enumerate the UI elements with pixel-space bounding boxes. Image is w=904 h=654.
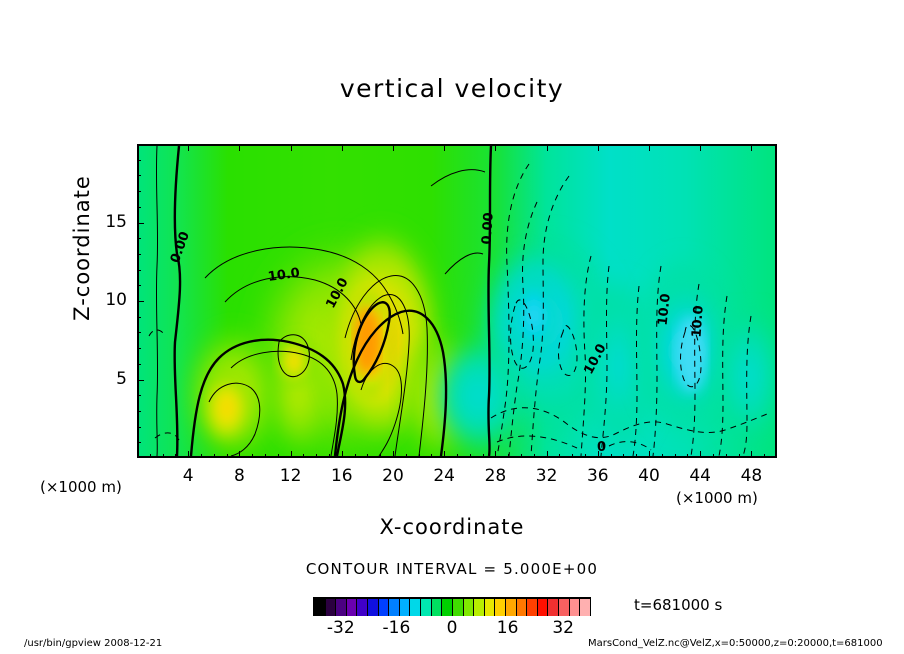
x-tick-mark bbox=[444, 451, 445, 458]
x-tick-mark-top bbox=[547, 144, 548, 151]
x-minor-tick bbox=[739, 454, 740, 458]
colorbar-swatch bbox=[410, 599, 421, 616]
x-minor-tick bbox=[419, 454, 420, 458]
x-minor-tick bbox=[214, 454, 215, 458]
contour-value-label: 0 bbox=[597, 440, 606, 455]
contour-field bbox=[139, 146, 775, 456]
x-minor-tick bbox=[175, 454, 176, 458]
x-minor-tick bbox=[521, 454, 522, 458]
x-tick-mark bbox=[700, 451, 701, 458]
colorbar-swatch bbox=[347, 599, 358, 616]
y-minor-tick bbox=[137, 191, 141, 192]
x-minor-tick bbox=[611, 454, 612, 458]
colorbar-swatch bbox=[506, 599, 517, 616]
x-tick-mark bbox=[393, 451, 394, 458]
contour-value-label: 10.0 bbox=[690, 305, 707, 338]
x-tick-mark-top bbox=[751, 144, 752, 151]
colorbar-swatch bbox=[400, 599, 411, 616]
colorbar-swatch bbox=[357, 599, 368, 616]
colorbar-swatch bbox=[517, 599, 528, 616]
x-tick-mark-top bbox=[700, 144, 701, 151]
x-minor-tick bbox=[457, 454, 458, 458]
y-minor-tick bbox=[137, 427, 141, 428]
x-minor-tick bbox=[150, 454, 151, 458]
y-axis-unit: (×1000 m) bbox=[40, 478, 122, 496]
x-tick-label: 44 bbox=[675, 466, 725, 486]
x-minor-tick bbox=[252, 454, 253, 458]
colorbar-swatch bbox=[548, 599, 559, 616]
y-tick-mark bbox=[137, 380, 144, 381]
x-tick-label: 8 bbox=[214, 466, 264, 486]
x-tick-label: 20 bbox=[368, 466, 418, 486]
x-tick-mark bbox=[547, 451, 548, 458]
x-minor-tick bbox=[713, 454, 714, 458]
y-minor-tick bbox=[137, 270, 141, 271]
x-minor-tick bbox=[662, 454, 663, 458]
x-minor-tick bbox=[623, 454, 624, 458]
x-tick-label: 4 bbox=[163, 466, 213, 486]
y-minor-tick bbox=[137, 442, 141, 443]
x-minor-tick bbox=[431, 454, 432, 458]
colorbar-swatch bbox=[368, 599, 379, 616]
colorbar-swatch bbox=[559, 599, 570, 616]
colorbar-tick-label: 16 bbox=[478, 618, 538, 638]
y-minor-tick bbox=[137, 411, 141, 412]
colorbar-swatch bbox=[580, 599, 591, 616]
colorbar-swatch bbox=[453, 599, 464, 616]
x-tick-mark bbox=[751, 451, 752, 458]
contour-interval-label: CONTOUR INTERVAL = 5.000E+00 bbox=[0, 560, 904, 578]
y-tick-mark bbox=[137, 223, 144, 224]
x-tick-mark bbox=[342, 451, 343, 458]
x-tick-label: 12 bbox=[266, 466, 316, 486]
x-minor-tick bbox=[508, 454, 509, 458]
x-minor-tick bbox=[726, 454, 727, 458]
x-minor-tick bbox=[483, 454, 484, 458]
x-minor-tick bbox=[764, 454, 765, 458]
x-minor-tick bbox=[316, 454, 317, 458]
colorbar-swatch bbox=[527, 599, 538, 616]
y-minor-tick bbox=[137, 317, 141, 318]
colorbar[interactable] bbox=[313, 597, 591, 616]
x-minor-tick bbox=[278, 454, 279, 458]
colorbar-swatch bbox=[379, 599, 390, 616]
x-minor-tick bbox=[636, 454, 637, 458]
x-tick-mark-top bbox=[598, 144, 599, 151]
colorbar-swatch bbox=[485, 599, 496, 616]
y-axis-title: Z-coordinate bbox=[70, 158, 94, 338]
x-tick-mark-top bbox=[188, 144, 189, 151]
x-minor-tick bbox=[406, 454, 407, 458]
x-axis-title: X-coordinate bbox=[0, 515, 904, 539]
y-minor-tick bbox=[137, 332, 141, 333]
colorbar-swatch bbox=[421, 599, 432, 616]
x-minor-tick bbox=[534, 454, 535, 458]
colorbar-swatch bbox=[495, 599, 506, 616]
colorbar-tick-label: 0 bbox=[422, 618, 482, 638]
x-tick-label: 40 bbox=[624, 466, 674, 486]
x-tick-label: 28 bbox=[470, 466, 520, 486]
colorbar-swatch bbox=[538, 599, 549, 616]
colorbar-swatch bbox=[326, 599, 337, 616]
contour-value-label: 0.00 bbox=[480, 212, 497, 245]
x-minor-tick bbox=[559, 454, 560, 458]
x-tick-mark bbox=[649, 451, 650, 458]
colorbar-swatch bbox=[432, 599, 443, 616]
x-tick-mark bbox=[188, 451, 189, 458]
y-minor-tick bbox=[137, 207, 141, 208]
y-minor-tick bbox=[137, 348, 141, 349]
x-minor-tick bbox=[201, 454, 202, 458]
x-minor-tick bbox=[380, 454, 381, 458]
y-minor-tick bbox=[137, 364, 141, 365]
colorbar-swatch bbox=[315, 599, 326, 616]
x-minor-tick bbox=[572, 454, 573, 458]
x-minor-tick bbox=[585, 454, 586, 458]
x-tick-mark-top bbox=[649, 144, 650, 151]
colorbar-tick-label: 32 bbox=[533, 618, 593, 638]
x-minor-tick bbox=[163, 454, 164, 458]
x-minor-tick bbox=[355, 454, 356, 458]
x-tick-mark-top bbox=[291, 144, 292, 151]
x-tick-label: 24 bbox=[419, 466, 469, 486]
y-minor-tick bbox=[137, 285, 141, 286]
x-tick-mark-top bbox=[239, 144, 240, 151]
x-tick-label: 48 bbox=[726, 466, 776, 486]
page-title: vertical velocity bbox=[0, 74, 904, 103]
y-tick-mark bbox=[137, 301, 144, 302]
x-tick-mark bbox=[495, 451, 496, 458]
x-minor-tick bbox=[367, 454, 368, 458]
colorbar-gradient bbox=[315, 599, 591, 616]
x-tick-mark bbox=[291, 451, 292, 458]
x-minor-tick bbox=[675, 454, 676, 458]
footer-command: /usr/bin/gpview 2008-12-21 bbox=[24, 638, 162, 649]
x-tick-label: 36 bbox=[573, 466, 623, 486]
x-minor-tick bbox=[687, 454, 688, 458]
y-minor-tick bbox=[137, 254, 141, 255]
x-tick-label: 32 bbox=[522, 466, 572, 486]
footer-source: MarsCond_VelZ.nc@VelZ,x=0:50000,z=0:2000… bbox=[588, 638, 883, 649]
colorbar-tick-label: -16 bbox=[366, 618, 426, 638]
x-tick-mark-top bbox=[444, 144, 445, 151]
colorbar-swatch bbox=[464, 599, 475, 616]
colorbar-swatch bbox=[442, 599, 453, 616]
y-minor-tick bbox=[137, 175, 141, 176]
contour-plot-area[interactable] bbox=[137, 144, 777, 458]
x-tick-mark-top bbox=[342, 144, 343, 151]
x-axis-unit: (×1000 m) bbox=[676, 489, 758, 507]
y-minor-tick bbox=[137, 160, 141, 161]
x-tick-mark-top bbox=[393, 144, 394, 151]
x-tick-mark bbox=[239, 451, 240, 458]
colorbar-swatch bbox=[389, 599, 400, 616]
colorbar-tick-label: -32 bbox=[311, 618, 371, 638]
x-minor-tick bbox=[227, 454, 228, 458]
y-minor-tick bbox=[137, 238, 141, 239]
x-minor-tick bbox=[303, 454, 304, 458]
time-label: t=681000 s bbox=[634, 596, 722, 614]
x-minor-tick bbox=[470, 454, 471, 458]
x-tick-mark-top bbox=[495, 144, 496, 151]
colorbar-swatch bbox=[570, 599, 581, 616]
y-minor-tick bbox=[137, 395, 141, 396]
colorbar-swatch bbox=[336, 599, 347, 616]
x-tick-label: 16 bbox=[317, 466, 367, 486]
x-minor-tick bbox=[265, 454, 266, 458]
y-tick-label: 5 bbox=[87, 369, 127, 389]
x-minor-tick bbox=[329, 454, 330, 458]
colorbar-swatch bbox=[474, 599, 485, 616]
